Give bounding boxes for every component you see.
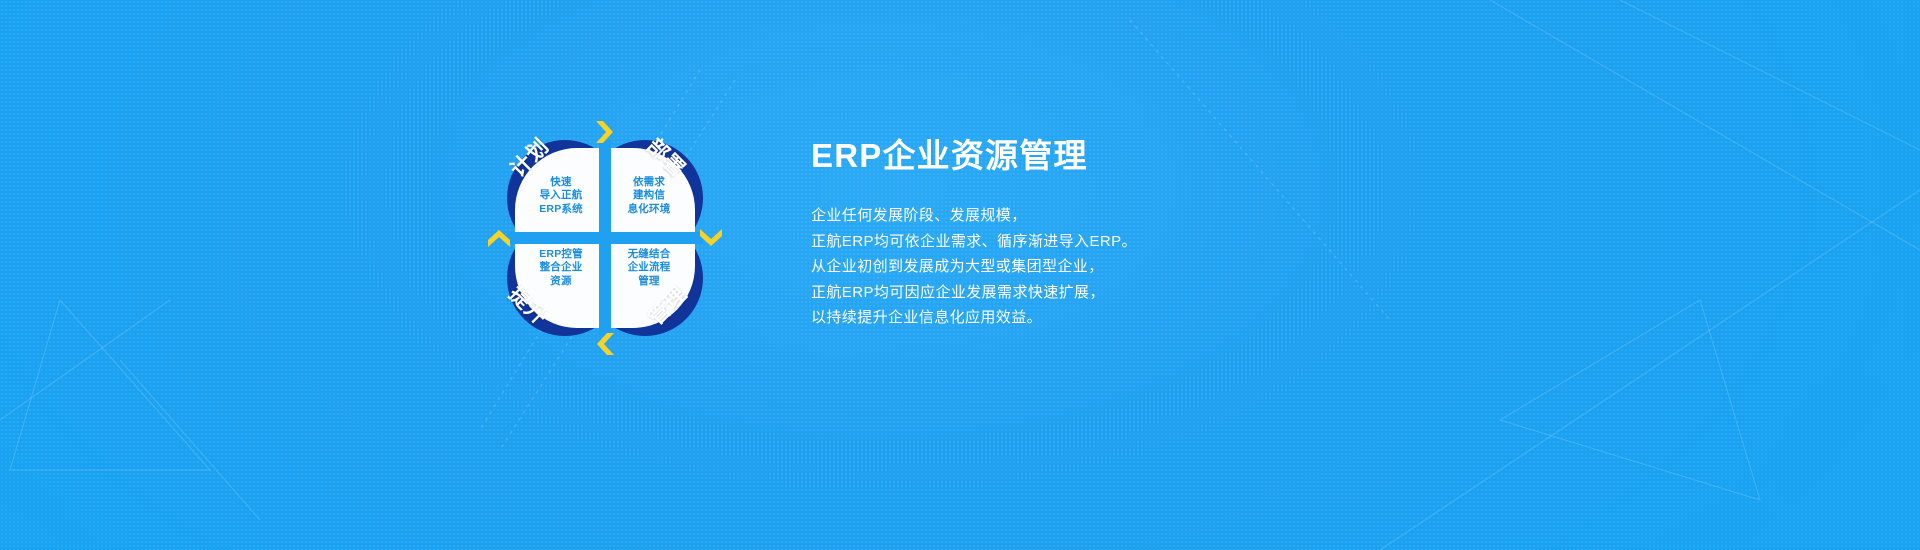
petal-text-bottom-left: ERP控管 整合企业 资源 <box>520 248 602 288</box>
chevron-arrow-top <box>596 121 613 143</box>
headline: ERP企业资源管理 <box>811 136 1511 176</box>
chevron-arrow-bottom <box>597 333 614 355</box>
body-line: 企业任何发展阶段、发展规模， <box>811 203 1511 229</box>
petal-text-bottom-right: 无缝结合 企业流程 管理 <box>608 248 690 288</box>
chevron-arrow-right <box>700 229 722 246</box>
petal-text-top-left: 快速 导入正航 ERP系统 <box>520 176 602 216</box>
body-line: 以持续提升企业信息化应用效益。 <box>811 305 1511 331</box>
erp-banner: 计划 部署 提升 管理 快速 导入正航 ERP系统 依需求 建构信 息化环境 E… <box>0 0 1920 550</box>
copy-block: ERP企业资源管理 企业任何发展阶段、发展规模， 正航ERP均可依企业需求、循序… <box>811 136 1511 331</box>
body-paragraph: 企业任何发展阶段、发展规模， 正航ERP均可依企业需求、循序渐进导入ERP。 从… <box>811 203 1511 331</box>
chevron-arrow-left <box>488 230 510 247</box>
body-line: 从企业初创到发展成为大型或集团型企业， <box>811 254 1511 280</box>
petal-text-top-right: 依需求 建构信 息化环境 <box>608 176 690 216</box>
body-line: 正航ERP均可因应企业发展需求快速扩展， <box>811 280 1511 306</box>
body-line: 正航ERP均可依企业需求、循序渐进导入ERP。 <box>811 229 1511 255</box>
erp-cycle-diagram: 计划 部署 提升 管理 快速 导入正航 ERP系统 依需求 建构信 息化环境 E… <box>489 122 721 354</box>
